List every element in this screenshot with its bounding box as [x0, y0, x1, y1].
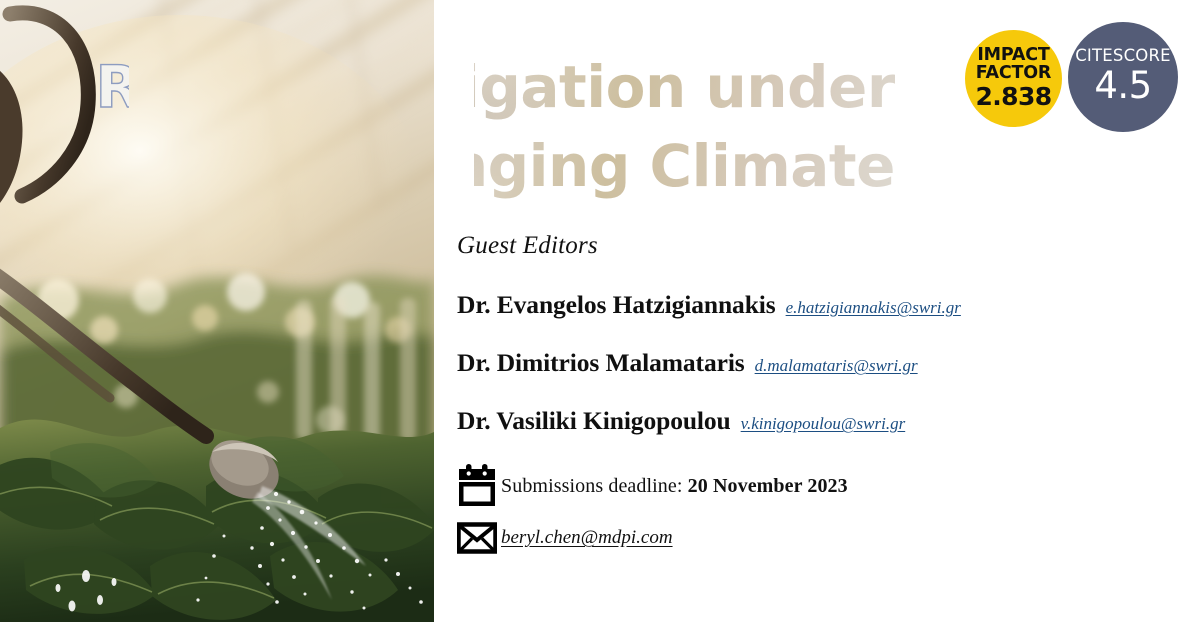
- metric-badges: IMPACT FACTOR 2.838 CITESCORE 4.5: [965, 22, 1178, 132]
- editor-name: Dr. Vasiliki Kinigopoulou: [457, 406, 731, 436]
- deadline-label: Submissions deadline:: [501, 475, 683, 497]
- deadline-text: Submissions deadline: 20 November 2023: [501, 475, 848, 498]
- editor-email-link[interactable]: v.kinigopoulou@swri.gr: [741, 414, 906, 434]
- editor-row: Dr. Vasiliki Kinigopoulou v.kinigopoulou…: [457, 406, 1177, 436]
- editors-content: Guest Editors Dr. Evangelos Hatzigiannak…: [457, 232, 1177, 568]
- impact-factor-value: 2.838: [975, 83, 1051, 111]
- impact-factor-badge: IMPACT FACTOR 2.838: [965, 30, 1062, 127]
- editor-row: Dr. Evangelos Hatzigiannakis e.hatzigian…: [457, 290, 1177, 320]
- greenhouse-watering-photo: [0, 0, 434, 622]
- meta-section: Submissions deadline: 20 November 2023 b…: [457, 464, 1177, 554]
- editor-email-link[interactable]: d.malamataris@swri.gr: [755, 356, 918, 376]
- special-issue-poster: Rational Irrigation under Changing Clima…: [0, 0, 1200, 630]
- contact-email-link[interactable]: beryl.chen@mdpi.com: [501, 527, 673, 549]
- citescore-badge: CITESCORE 4.5: [1068, 22, 1178, 132]
- impact-factor-line1: IMPACT: [977, 46, 1049, 64]
- contact-row: beryl.chen@mdpi.com: [457, 522, 1177, 554]
- editor-name: Dr. Evangelos Hatzigiannakis: [457, 290, 776, 320]
- citescore-value: 4.5: [1094, 67, 1151, 106]
- editor-row: Dr. Dimitrios Malamataris d.malamataris@…: [457, 348, 1177, 378]
- guest-editors-heading: Guest Editors: [457, 232, 1177, 260]
- editor-email-link[interactable]: e.hatzigiannakis@swri.gr: [786, 298, 961, 318]
- calendar-icon: [457, 464, 501, 508]
- impact-factor-line2: FACTOR: [976, 64, 1051, 82]
- editor-name: Dr. Dimitrios Malamataris: [457, 348, 745, 378]
- deadline-date: 20 November 2023: [688, 475, 848, 497]
- citescore-label: CITESCORE: [1075, 48, 1171, 65]
- envelope-icon: [457, 522, 501, 554]
- deadline-row: Submissions deadline: 20 November 2023: [457, 464, 1177, 508]
